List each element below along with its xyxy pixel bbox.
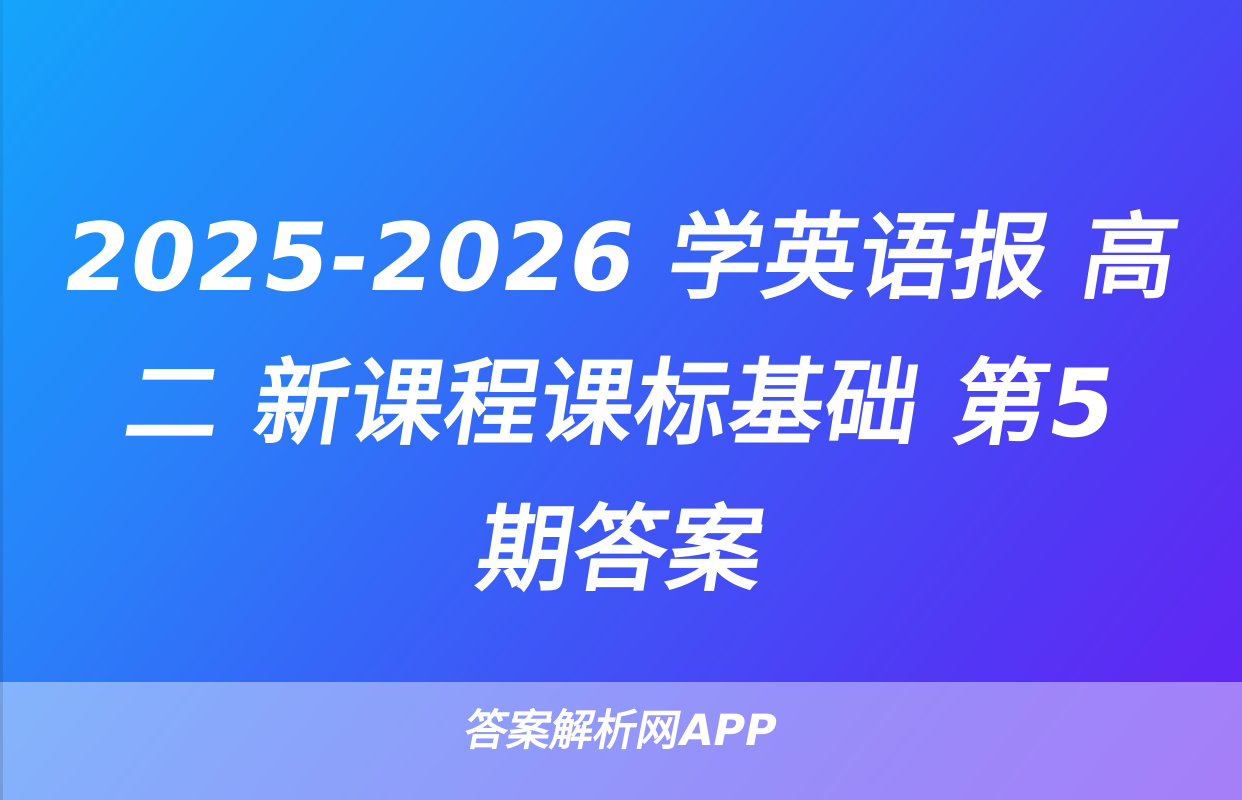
poster-canvas: 2025-2026 学英语报 高 二 新课程课标基础 第5 期答案 答案解析网A… <box>0 0 1242 800</box>
poster-title-line-2: 二 新课程课标基础 第5 <box>14 332 1227 478</box>
poster-title-line-3: 期答案 <box>14 478 1227 624</box>
poster-title-line-1: 2025-2026 学英语报 高 <box>14 186 1227 332</box>
poster-title-block: 2025-2026 学英语报 高 二 新课程课标基础 第5 期答案 <box>0 186 1242 624</box>
watermark-container: 答案解析网APP <box>0 703 1242 759</box>
watermark-app-label: 答案解析网APP <box>460 703 782 759</box>
